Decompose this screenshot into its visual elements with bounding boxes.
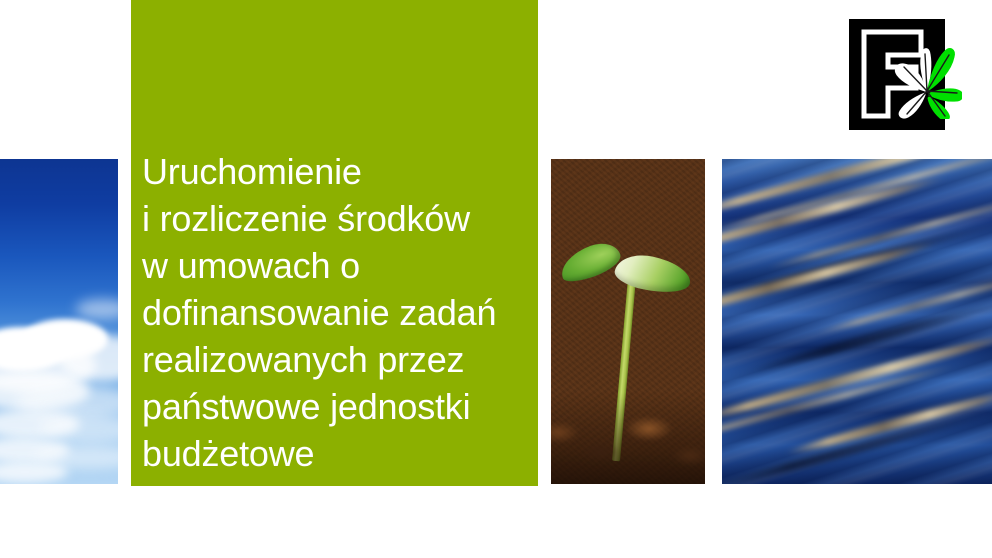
sky-photo <box>0 159 118 484</box>
green-title-panel: Uruchomienie i rozliczenie środków w umo… <box>131 0 538 486</box>
seedling-photo <box>551 159 705 484</box>
water-photo <box>722 159 992 484</box>
page-title: Uruchomienie i rozliczenie środków w umo… <box>142 148 532 477</box>
logo-leaf-icon <box>891 43 962 119</box>
soil-foreground <box>551 394 705 484</box>
slide-canvas: Uruchomienie i rozliczenie środków w umo… <box>0 0 992 558</box>
nfosigw-logo[interactable] <box>849 19 962 131</box>
